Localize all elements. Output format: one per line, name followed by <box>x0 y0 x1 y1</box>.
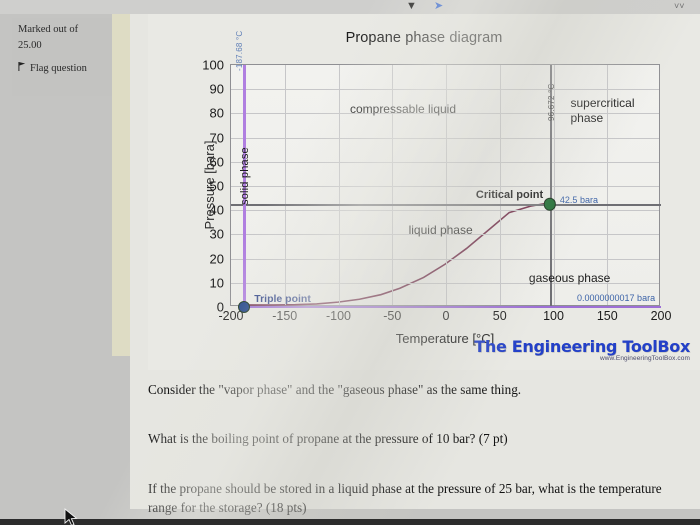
triple-point-marker <box>238 301 250 313</box>
y-axis-tick-label: 100 <box>202 58 224 73</box>
y-axis-label: Pressure [bara] <box>202 141 217 230</box>
x-axis-tick-label: 100 <box>543 309 564 323</box>
mouse-cursor <box>64 508 80 525</box>
x-axis-tick-label: 50 <box>493 309 507 323</box>
pin-icon[interactable]: ▼ <box>406 0 417 12</box>
screenshot-root: ▼ ➤ ˅˅ Marked out of 25.00 Flag question… <box>0 0 700 525</box>
phase-diagram-chart: Propane phase diagram 010203040506070809… <box>148 14 700 370</box>
x-axis-tick-label: -150 <box>272 309 297 323</box>
gridline-vertical <box>285 65 286 305</box>
question-note: Consider the "vapor phase" and the "gase… <box>148 380 683 399</box>
region-label-liquid-phase: liquid phase <box>409 223 473 237</box>
marked-out-of-value: 25.00 <box>18 38 116 54</box>
critical-point-label: Critical point <box>476 189 543 201</box>
triple-point-label: Triple point <box>254 293 311 305</box>
region-label-supercritical-phase: supercritical phase <box>571 96 663 126</box>
x-axis-tick-label: 150 <box>597 309 618 323</box>
bottom-bezel <box>0 519 700 525</box>
region-label-gaseous-phase: gaseous phase <box>529 271 610 285</box>
x-axis-tick-label: 200 <box>651 309 672 323</box>
region-label-solid-phase: solid phase <box>239 148 251 206</box>
y-axis-tick-label: 80 <box>210 106 224 121</box>
triple-point-line <box>244 306 661 308</box>
y-axis-tick-label: 90 <box>210 82 224 97</box>
region-label-compressable-liquid: compressable liquid <box>350 102 456 116</box>
gridline-horizontal <box>231 89 659 90</box>
gridline-horizontal <box>231 162 659 163</box>
question-2-text: If the propane should be stored in a liq… <box>148 479 683 517</box>
triple-point-pressure-label: 0.0000000017 bara <box>577 293 655 303</box>
gridline-horizontal <box>231 138 659 139</box>
toolbar-icon-group: ▼ ➤ ˅˅ <box>406 0 526 14</box>
gridline-horizontal <box>231 210 659 211</box>
plot-area: 0102030405060708090100-200-150-100-50050… <box>230 64 660 306</box>
top-strip <box>0 0 700 14</box>
gridline-horizontal <box>231 259 659 260</box>
gridline-vertical <box>500 65 501 305</box>
logo-url: www.EngineeringToolBox.com <box>474 355 690 362</box>
logo-title: The Engineering ToolBox <box>474 338 690 355</box>
x-axis-tick-label: 0 <box>443 309 450 323</box>
flag-icon <box>18 61 27 71</box>
chart-title: Propane phase diagram <box>148 30 700 46</box>
x-axis-tick-label: -100 <box>326 309 351 323</box>
quiz-content-panel: Propane phase diagram 010203040506070809… <box>130 14 700 509</box>
y-axis-tick-label: 20 <box>210 251 224 266</box>
marked-out-of-label: Marked out of <box>18 22 116 38</box>
engineering-toolbox-logo: The Engineering ToolBox www.EngineeringT… <box>474 338 690 362</box>
gridline-vertical <box>339 65 340 305</box>
flag-question-button[interactable]: Flag question <box>18 61 116 77</box>
critical-pressure-label: 42.5 bara <box>560 195 598 205</box>
x-axis-tick-label: -50 <box>383 309 401 323</box>
content-margin-strip <box>112 14 130 356</box>
vaporization-curve <box>244 203 548 305</box>
send-icon[interactable]: ➤ <box>434 0 443 12</box>
y-axis-tick-label: 10 <box>210 275 224 290</box>
question-meta-panel: Marked out of 25.00 Flag question <box>12 18 122 96</box>
chevron-down-icon[interactable]: ˅˅ <box>674 0 685 12</box>
flag-question-label: Flag question <box>30 63 87 74</box>
triple-point-temperature-label: -187.68 °C <box>235 31 244 71</box>
critical-temperature-label: 96.672 °C <box>547 84 556 121</box>
gridline-horizontal <box>231 186 659 187</box>
question-1-text: What is the boiling point of propane at … <box>148 429 683 448</box>
